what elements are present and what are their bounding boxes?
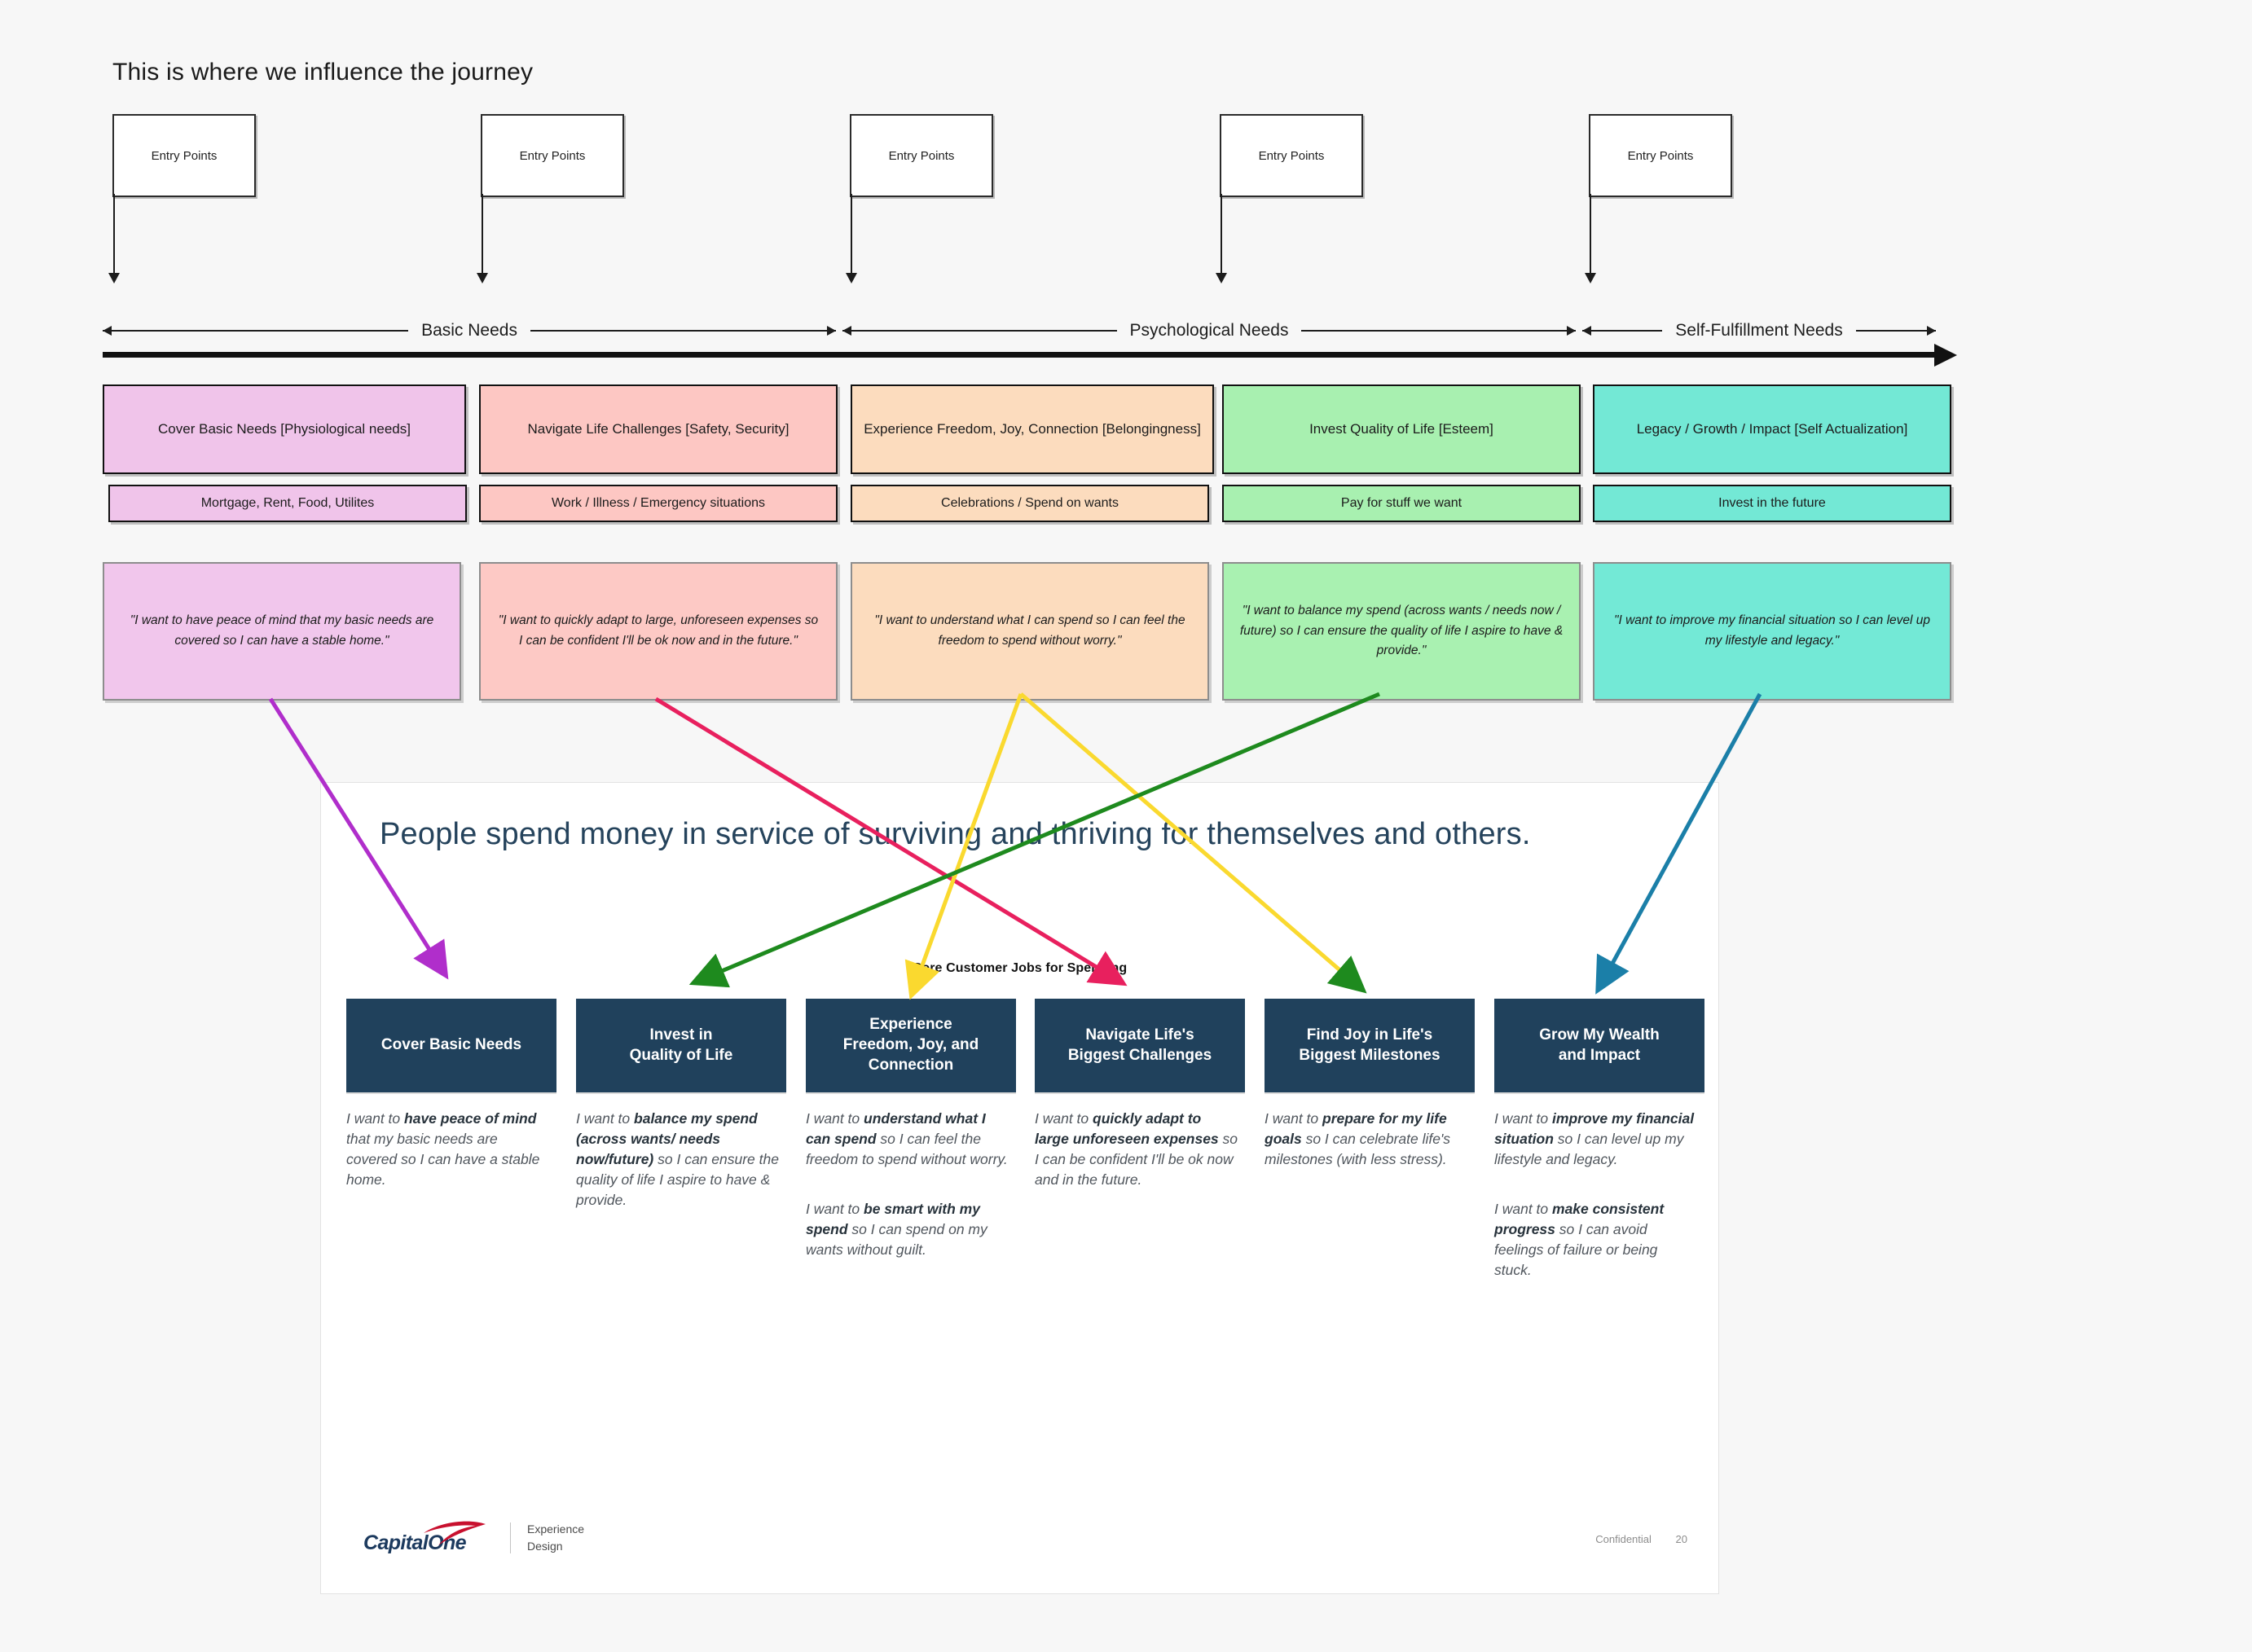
segment-line-right — [1301, 330, 1576, 332]
segment-line-left — [842, 330, 1117, 332]
need-example-mortgage-rent-food[interactable]: Mortgage, Rent, Food, Utilites — [108, 485, 467, 522]
job-statements-find-joy-milestones: I want to prepare for my life goals so I… — [1265, 1109, 1468, 1199]
need-example-label: Mortgage, Rent, Food, Utilites — [201, 496, 375, 511]
entry-point-arrow-4 — [1221, 194, 1222, 282]
need-example-celebrations[interactable]: Celebrations / Spend on wants — [851, 485, 1209, 522]
needs-segment-basic: Basic Needs — [103, 316, 836, 345]
quote-box-invest-quality-of-life[interactable]: "I want to balance my spend (across want… — [1222, 562, 1581, 701]
job-card-title: Grow My Wealthand Impact — [1539, 1026, 1659, 1065]
job-card-experience-freedom[interactable]: ExperienceFreedom, Joy, andConnection — [806, 999, 1016, 1092]
quote-box-legacy-growth-impact[interactable]: "I want to improve my financial situatio… — [1593, 562, 1951, 701]
needs-segment-label: Psychological Needs — [1117, 321, 1302, 341]
page-number: 20 — [1676, 1533, 1687, 1545]
job-statement: I want to prepare for my life goals so I… — [1265, 1109, 1468, 1170]
entry-point-label: Entry Points — [520, 149, 586, 163]
brand-sub-line-1: Experience — [527, 1521, 584, 1538]
need-example-work-illness[interactable]: Work / Illness / Emergency situations — [479, 485, 838, 522]
entry-point-box-2[interactable]: Entry Points — [481, 114, 624, 197]
canvas: This is where we influence the journey E… — [0, 0, 2252, 1652]
page-title: This is where we influence the journey — [112, 59, 533, 86]
segment-line-right — [1856, 330, 1936, 332]
need-example-label: Invest in the future — [1718, 496, 1826, 511]
needs-axis-arrow — [103, 352, 1936, 358]
job-card-title: Invest inQuality of Life — [630, 1026, 733, 1065]
need-example-label: Pay for stuff we want — [1341, 496, 1462, 511]
job-card-title: Navigate Life'sBiggest Challenges — [1068, 1026, 1212, 1065]
job-statement: I want to understand what I can spend so… — [806, 1109, 1009, 1170]
job-statement: I want to improve my financial situation… — [1494, 1109, 1698, 1170]
need-box-legacy-growth-impact[interactable]: Legacy / Growth / Impact [Self Actualiza… — [1593, 384, 1951, 474]
need-box-label: Legacy / Growth / Impact [Self Actualiza… — [1637, 420, 1908, 440]
quote-text: "I want to understand what I can spend s… — [867, 611, 1193, 652]
quote-text: "I want to have peace of mind that my ba… — [119, 611, 445, 652]
brand-sub-line-2: Design — [527, 1538, 584, 1555]
need-box-cover-basic-needs[interactable]: Cover Basic Needs [Physiological needs] — [103, 384, 466, 474]
job-card-title: ExperienceFreedom, Joy, andConnection — [843, 1015, 979, 1075]
job-card-grow-wealth-impact[interactable]: Grow My Wealthand Impact — [1494, 999, 1704, 1092]
job-statements-grow-wealth-impact: I want to improve my financial situation… — [1494, 1109, 1698, 1310]
segment-line-left — [103, 330, 408, 332]
quote-text: "I want to improve my financial situatio… — [1609, 611, 1935, 652]
job-card-cover-basic-needs[interactable]: Cover Basic Needs — [346, 999, 556, 1092]
entry-point-label: Entry Points — [1628, 149, 1694, 163]
needs-segment-psychological: Psychological Needs — [842, 316, 1576, 345]
entry-point-label: Entry Points — [152, 149, 218, 163]
entry-point-box-5[interactable]: Entry Points — [1589, 114, 1732, 197]
slide-section-label: Core Customer Jobs for Spending — [321, 961, 1718, 976]
quote-box-cover-basic-needs[interactable]: "I want to have peace of mind that my ba… — [103, 562, 461, 701]
logo-divider — [510, 1522, 511, 1553]
needs-scale: Basic Needs Psychological Needs Self-Ful… — [0, 316, 2252, 349]
segment-line-right — [530, 330, 836, 332]
needs-segment-label: Self-Fulfillment Needs — [1662, 321, 1855, 341]
entry-point-box-1[interactable]: Entry Points — [112, 114, 256, 197]
need-box-invest-quality-of-life[interactable]: Invest Quality of Life [Esteem] — [1222, 384, 1581, 474]
job-card-find-joy-milestones[interactable]: Find Joy in Life'sBiggest Milestones — [1265, 999, 1475, 1092]
need-box-label: Cover Basic Needs [Physiological needs] — [158, 420, 411, 440]
slide-footer-meta: Confidential 20 — [1595, 1533, 1687, 1545]
quote-box-experience-freedom[interactable]: "I want to understand what I can spend s… — [851, 562, 1209, 701]
slide-headline: People spend money in service of survivi… — [380, 817, 1531, 852]
entry-point-label: Entry Points — [1259, 149, 1325, 163]
job-statement: I want to be smart with my spend so I ca… — [806, 1199, 1009, 1260]
need-box-label: Invest Quality of Life [Esteem] — [1309, 420, 1493, 440]
brand-sub-label: Experience Design — [527, 1521, 584, 1555]
quote-box-navigate-life-challenges[interactable]: "I want to quickly adapt to large, unfor… — [479, 562, 838, 701]
job-card-invest-quality-of-life[interactable]: Invest inQuality of Life — [576, 999, 786, 1092]
segment-line-left — [1582, 330, 1662, 332]
need-box-label: Navigate Life Challenges [Safety, Securi… — [528, 420, 790, 440]
job-statement: I want to make consistent progress so I … — [1494, 1199, 1698, 1281]
needs-segment-label: Basic Needs — [408, 321, 530, 341]
job-statement: I want to balance my spend (across wants… — [576, 1109, 780, 1210]
need-box-navigate-life-challenges[interactable]: Navigate Life Challenges [Safety, Securi… — [479, 384, 838, 474]
quote-text: "I want to balance my spend (across want… — [1238, 601, 1564, 661]
need-example-invest-future[interactable]: Invest in the future — [1593, 485, 1951, 522]
need-box-label: Experience Freedom, Joy, Connection [Bel… — [864, 420, 1201, 440]
footer-brand-lockup: CapitalOne Experience Design — [363, 1520, 584, 1556]
entry-point-arrow-2 — [482, 194, 483, 282]
job-statement: I want to have peace of mind that my bas… — [346, 1109, 550, 1190]
need-example-pay-for-stuff[interactable]: Pay for stuff we want — [1222, 485, 1581, 522]
entry-point-box-3[interactable]: Entry Points — [850, 114, 993, 197]
job-statements-experience-freedom: I want to understand what I can spend so… — [806, 1109, 1009, 1290]
need-example-label: Celebrations / Spend on wants — [941, 496, 1119, 511]
needs-segment-self-fulfillment: Self-Fulfillment Needs — [1582, 316, 1936, 345]
job-statement: I want to quickly adapt to large unfores… — [1035, 1109, 1238, 1190]
entry-point-label: Entry Points — [889, 149, 955, 163]
entry-point-arrow-3 — [851, 194, 852, 282]
job-card-title: Cover Basic Needs — [381, 1035, 521, 1056]
capital-one-swoosh-icon — [422, 1520, 489, 1548]
job-card-navigate-challenges[interactable]: Navigate Life'sBiggest Challenges — [1035, 999, 1245, 1092]
entry-point-arrow-1 — [113, 194, 115, 282]
entry-point-arrow-5 — [1590, 194, 1591, 282]
quote-text: "I want to quickly adapt to large, unfor… — [495, 611, 821, 652]
need-example-label: Work / Illness / Emergency situations — [552, 496, 765, 511]
job-card-title: Find Joy in Life'sBiggest Milestones — [1299, 1026, 1440, 1065]
job-statements-cover-basic-needs: I want to have peace of mind that my bas… — [346, 1109, 550, 1219]
job-statements-navigate-challenges: I want to quickly adapt to large unfores… — [1035, 1109, 1238, 1219]
presentation-slide: People spend money in service of survivi… — [320, 782, 1719, 1594]
need-box-experience-freedom[interactable]: Experience Freedom, Joy, Connection [Bel… — [851, 384, 1214, 474]
capital-one-logo: CapitalOne — [363, 1520, 487, 1556]
entry-point-box-4[interactable]: Entry Points — [1220, 114, 1363, 197]
job-statements-invest-quality-of-life: I want to balance my spend (across wants… — [576, 1109, 780, 1240]
confidential-label: Confidential — [1595, 1533, 1652, 1545]
